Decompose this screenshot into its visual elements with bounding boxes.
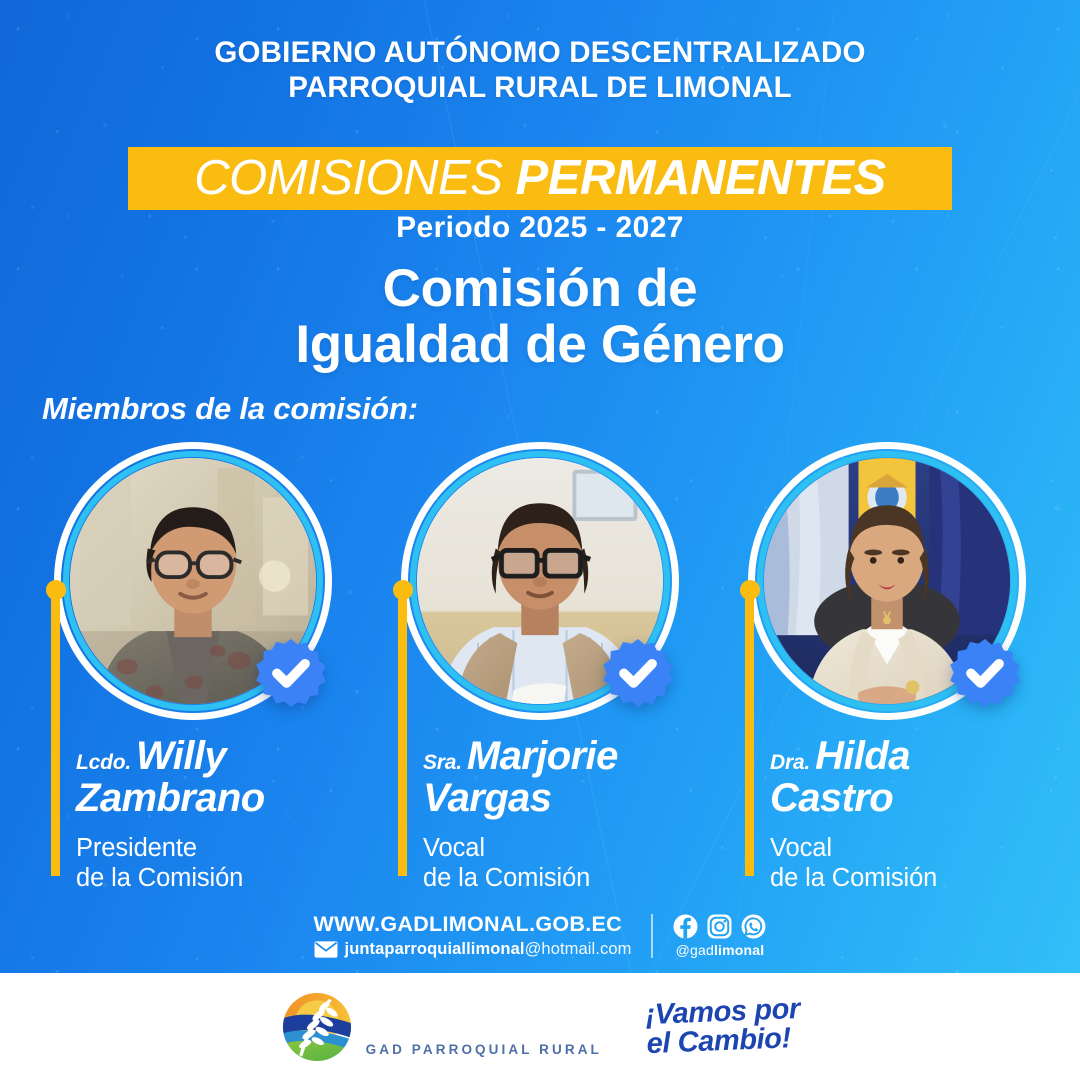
member-name-block: Dra.Hilda Castro Vocal de la Comisión	[770, 736, 1060, 893]
brand-subtitle: GAD PARROQUIAL RURAL	[366, 1042, 602, 1057]
instagram-icon[interactable]	[707, 914, 732, 939]
member-role-line2: de la Comisión	[423, 863, 713, 893]
member-last-name: Castro	[770, 777, 1060, 819]
banner-word-comisiones: COMISIONES	[194, 151, 502, 205]
member-role-line1: Vocal	[770, 833, 1060, 863]
member-role-line1: Vocal	[423, 833, 713, 863]
member-accent-line	[398, 590, 407, 876]
member-last-name: Vargas	[423, 777, 713, 819]
envelope-icon	[314, 941, 338, 958]
member-role-line1: Presidente	[76, 833, 366, 863]
members-heading: Miembros de la comisión:	[42, 391, 418, 427]
email-domain: @hotmail.com	[525, 940, 632, 958]
member-first-name: Hilda	[815, 734, 910, 778]
slogan-line2: el Cambio!	[646, 1023, 801, 1058]
contact-strip: WWW.GADLIMONAL.GOB.EC juntaparroquiallim…	[0, 913, 1080, 959]
contact-divider	[651, 914, 653, 958]
email-address[interactable]: juntaparroquiallimonal@hotmail.com	[345, 940, 632, 959]
member-role: Vocal de la Comisión	[770, 833, 1060, 893]
verified-badge-icon	[948, 636, 1022, 710]
member-prefix: Lcdo.	[76, 751, 131, 774]
member-first-name: Willy	[136, 734, 226, 778]
slogan: ¡Vamos por el Cambio!	[645, 994, 802, 1058]
member-photo-frame	[401, 442, 679, 720]
government-title-line1: GOBIERNO AUTÓNOMO DESCENTRALIZADO	[0, 36, 1080, 71]
limonal-logo-icon	[280, 990, 354, 1064]
email-user: juntaparroquiallimonal	[345, 940, 525, 958]
member-role: Vocal de la Comisión	[423, 833, 713, 893]
member-card: Lcdo.Willy Zambrano Presidente de la Com…	[18, 438, 368, 898]
brand-lockup: LIMONAL GAD PARROQUIAL RURAL	[280, 990, 602, 1064]
period-label: Periodo 2025 - 2027	[0, 211, 1080, 245]
member-card: Dra.Hilda Castro Vocal de la Comisión	[712, 438, 1062, 898]
verified-badge-icon	[254, 636, 328, 710]
member-role-line2: de la Comisión	[76, 863, 366, 893]
member-name-block: Lcdo.Willy Zambrano Presidente de la Com…	[76, 736, 366, 893]
member-accent-line	[51, 590, 60, 876]
footer-bar: LIMONAL GAD PARROQUIAL RURAL ¡Vamos por …	[0, 973, 1080, 1080]
government-title: GOBIERNO AUTÓNOMO DESCENTRALIZADO PARROQ…	[0, 36, 1080, 106]
website-url[interactable]: WWW.GADLIMONAL.GOB.EC	[314, 913, 632, 937]
member-prefix: Sra.	[423, 751, 462, 774]
handle-name: limonal	[714, 942, 764, 958]
member-photo-frame	[54, 442, 332, 720]
poster-canvas: GOBIERNO AUTÓNOMO DESCENTRALIZADO PARROQ…	[0, 0, 1080, 1080]
members-list: Lcdo.Willy Zambrano Presidente de la Com…	[0, 438, 1080, 898]
facebook-icon[interactable]	[673, 914, 698, 939]
member-last-name: Zambrano	[76, 777, 366, 819]
member-prefix: Dra.	[770, 751, 810, 774]
commission-name-line1: Comisión de	[0, 261, 1080, 317]
member-name-block: Sra.Marjorie Vargas Vocal de la Comisión	[423, 736, 713, 893]
member-accent-line	[745, 590, 754, 876]
social-block: @gadlimonal	[673, 914, 766, 958]
verified-badge-icon	[601, 636, 675, 710]
government-title-line2: PARROQUIAL RURAL DE LIMONAL	[0, 71, 1080, 106]
comisiones-permanentes-banner: COMISIONES PERMANENTES	[128, 147, 952, 210]
commission-name: Comisión de Igualdad de Género	[0, 261, 1080, 373]
member-card: Sra.Marjorie Vargas Vocal de la Comisión	[365, 438, 715, 898]
handle-prefix: @gad	[676, 942, 714, 958]
brand-name: LIMONAL	[366, 999, 602, 1040]
banner-word-permanentes: PERMANENTES	[516, 151, 886, 205]
social-handle: @gadlimonal	[673, 942, 766, 958]
member-role: Presidente de la Comisión	[76, 833, 366, 893]
contact-web-email: WWW.GADLIMONAL.GOB.EC juntaparroquiallim…	[314, 913, 632, 959]
member-role-line2: de la Comisión	[770, 863, 1060, 893]
member-photo-frame	[748, 442, 1026, 720]
commission-name-line2: Igualdad de Género	[0, 317, 1080, 373]
member-first-name: Marjorie	[467, 734, 618, 778]
whatsapp-icon[interactable]	[741, 914, 766, 939]
